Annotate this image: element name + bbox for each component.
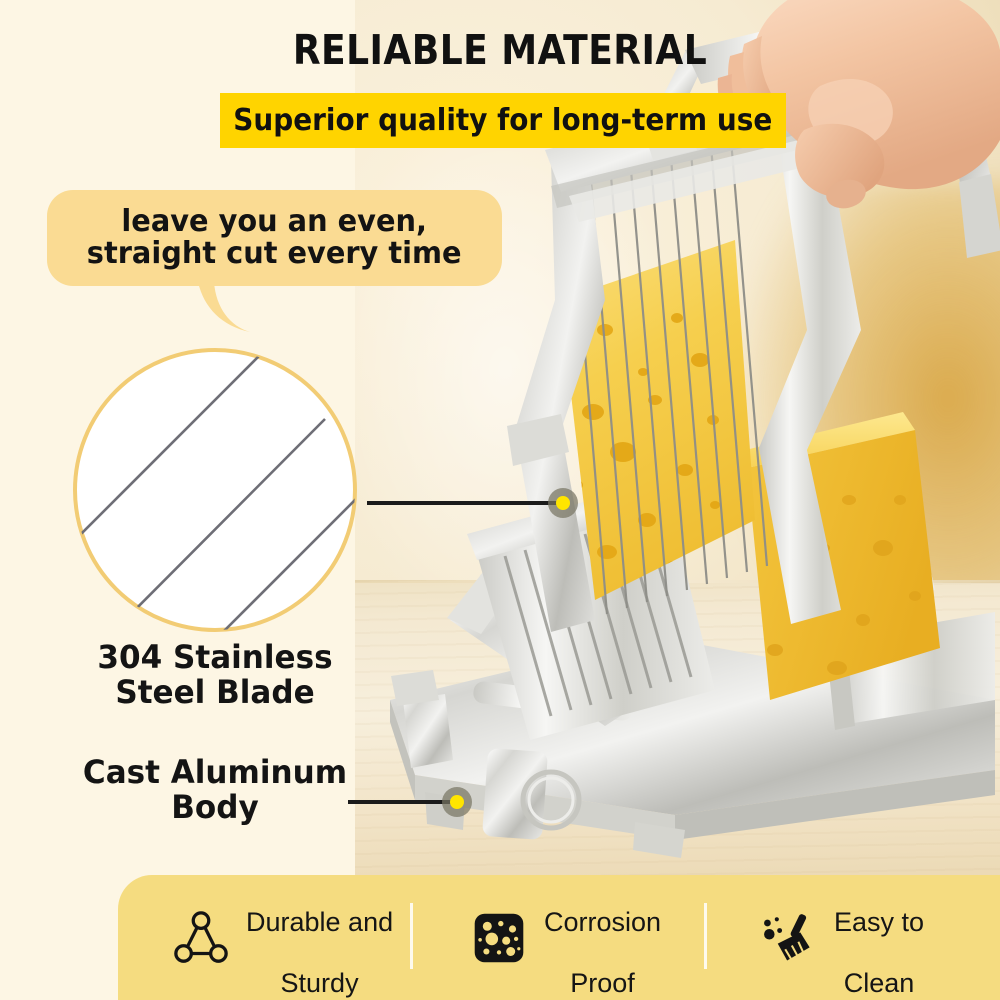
feature-2-line-2: Proof [570, 968, 635, 998]
corrosion-dots-icon [468, 907, 530, 969]
subhead-text: Superior quality for long-term use [234, 103, 773, 138]
feature-separator-1 [410, 903, 413, 969]
blade-magnifier-circle [70, 345, 360, 635]
leader-dot-body [442, 787, 472, 817]
feature-3-label: Easy to Clean [834, 877, 924, 998]
broom-icon [758, 907, 820, 969]
product-feature-poster: RELIABLE MATERIAL Superior quality for l… [0, 0, 1000, 1000]
callout-line-1: leave you an even, [122, 204, 428, 239]
feature-bar: Durable and Sturdy Corrosion [118, 875, 1000, 1000]
leader-line-blade [367, 501, 565, 505]
triangle-nodes-icon [170, 907, 232, 969]
label-blade-line-1: 304 Stainless [97, 638, 332, 676]
feature-1-line-1: Durable and [246, 907, 393, 937]
feature-1-line-2: Sturdy [281, 968, 359, 998]
feature-1-label: Durable and Sturdy [246, 877, 393, 998]
feature-2-line-1: Corrosion [544, 907, 661, 937]
label-body-line-1: Cast Aluminum [83, 753, 347, 791]
feature-3-line-1: Easy to [834, 907, 924, 937]
leader-dot-blade [548, 488, 578, 518]
feature-separator-2 [704, 903, 707, 969]
label-stainless-steel-blade: 304 Stainless Steel Blade [55, 640, 375, 710]
subhead-banner: Superior quality for long-term use [220, 93, 786, 148]
feature-3-line-2: Clean [844, 968, 915, 998]
callout-bubble-text: leave you an even, straight cut every ti… [87, 206, 462, 271]
label-blade-line-2: Steel Blade [115, 673, 314, 711]
feature-durable-sturdy: Durable and Sturdy [170, 875, 393, 1000]
label-cast-aluminum-body: Cast Aluminum Body [55, 755, 375, 825]
feature-2-label: Corrosion Proof [544, 877, 661, 998]
callout-bubble-tail [196, 282, 276, 334]
label-body-line-2: Body [171, 788, 258, 826]
feature-easy-to-clean: Easy to Clean [758, 875, 924, 1000]
feature-corrosion-proof: Corrosion Proof [468, 875, 661, 1000]
callout-line-2: straight cut every time [87, 236, 462, 271]
callout-bubble: leave you an even, straight cut every ti… [47, 190, 502, 286]
headline: RELIABLE MATERIAL [60, 26, 940, 74]
